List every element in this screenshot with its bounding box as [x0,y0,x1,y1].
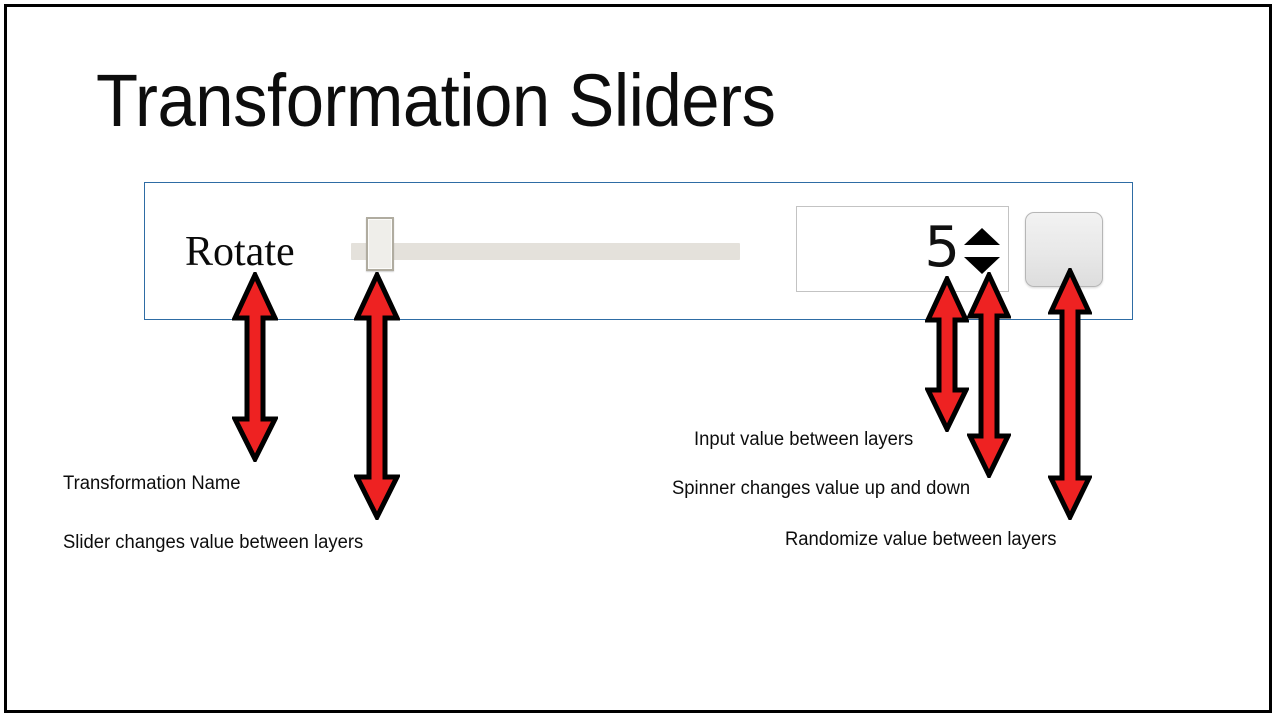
caption-spinner-changes: Spinner changes value up and down [672,477,970,500]
spinner-buttons[interactable] [964,228,1000,276]
slider-track[interactable] [351,243,740,260]
rotate-slider[interactable] [351,217,741,287]
transformation-name-label: Rotate [185,229,295,275]
caption-randomize-value: Randomize value between layers [785,528,1056,551]
page-title: Transformation Sliders [96,59,775,143]
callout-arrow-transformation-name [232,272,278,462]
caption-transformation-name: Transformation Name [63,472,241,495]
callout-arrow-slider [354,272,400,520]
caption-input-value: Input value between layers [694,428,913,451]
slider-thumb[interactable] [366,217,394,271]
caption-slider-changes: Slider changes value between layers [63,531,363,554]
spinbox-value[interactable]: 5 [924,215,960,281]
callout-arrow-input-value [925,276,969,432]
callout-arrow-spinner [967,272,1011,478]
triangle-up-icon[interactable] [964,228,1000,245]
callout-arrow-randomize [1048,268,1092,520]
slide-canvas: Transformation Sliders Rotate 5 [0,0,1280,720]
